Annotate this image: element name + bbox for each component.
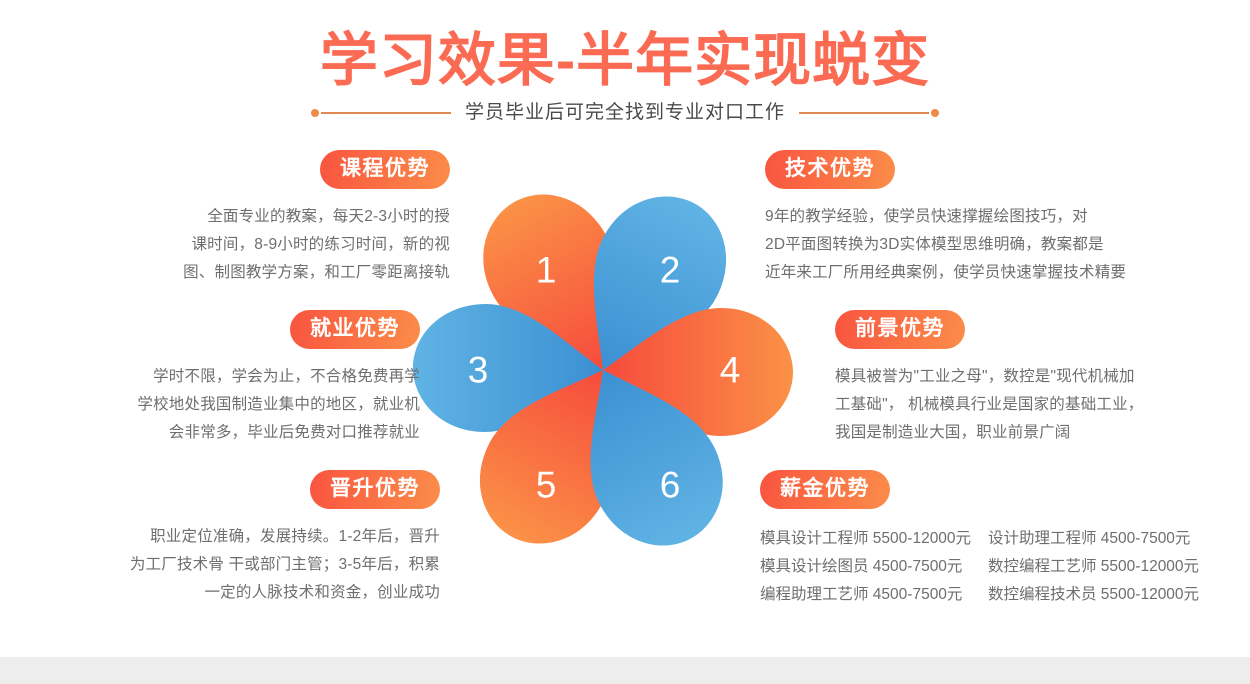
advantage-block-6: 薪金优势 模具设计工程师 5500-12000元 设计助理工程师 4500-75… (760, 470, 1205, 609)
subtitle-rule-right (799, 109, 939, 117)
text-line: 近年来工厂所用经典案例，使学员快速掌握技术精要 (765, 259, 1195, 287)
rule-dot-right-icon (931, 109, 939, 117)
advantage-3-text: 学时不限，学会为止，不合格免费再学 学校地处我国制造业集中的地区，就业机 会非常… (0, 363, 420, 447)
rule-bar-right (799, 112, 929, 114)
subtitle-row: 学员毕业后可完全找到专业对口工作 (0, 100, 1250, 126)
page-header: 学习效果-半年实现蜕变 学员毕业后可完全找到专业对口工作 (0, 0, 1250, 135)
text-line: 课时间，8-9小时的练习时间，新的视 (20, 231, 450, 259)
advantage-block-5: 晋升优势 职业定位准确，发展持续。1-2年后，晋升 为工厂技术骨 干或部门主管；… (10, 470, 440, 607)
rule-bar-left (321, 112, 451, 114)
badge-promotion-advantage[interactable]: 晋升优势 (310, 470, 440, 509)
petal-1-number: 1 (536, 250, 557, 291)
advantage-block-2: 技术优势 9年的教学经验，使学员快速撑握绘图技巧，对 2D平面图转换为3D实体模… (765, 150, 1195, 287)
advantage-block-3: 就业优势 学时不限，学会为止，不合格免费再学 学校地处我国制造业集中的地区，就业… (0, 310, 420, 447)
text-line: 全面专业的教案，每天2-3小时的授 (20, 203, 450, 231)
advantage-1-text: 全面专业的教案，每天2-3小时的授 课时间，8-9小时的练习时间，新的视 图、制… (20, 203, 450, 287)
badge-technical-advantage[interactable]: 技术优势 (765, 150, 895, 189)
text-line: 职业定位准确，发展持续。1-2年后，晋升 (10, 523, 440, 551)
advantage-5-text: 职业定位准确，发展持续。1-2年后，晋升 为工厂技术骨 干或部门主管；3-5年后… (10, 523, 440, 607)
advantage-4-text: 模具被誉为"工业之母"，数控是"现代机械加 工基础"， 机械模具行业是国家的基础… (835, 363, 1250, 447)
text-line: 学时不限，学会为止，不合格免费再学 (0, 363, 420, 391)
salary-cell: 模具设计工程师 5500-12000元 (760, 525, 988, 553)
bottom-band (0, 657, 1250, 684)
salary-cell: 数控编程工艺师 5500-12000元 (988, 553, 1205, 581)
text-line: 一定的人脉技术和资金，创业成功 (10, 579, 440, 607)
text-line: 工基础"， 机械模具行业是国家的基础工业， (835, 391, 1250, 419)
text-line: 图、制图教学方案，和工厂零距离接轨 (20, 259, 450, 287)
badge-salary-advantage[interactable]: 薪金优势 (760, 470, 890, 509)
petal-5-number: 5 (536, 465, 557, 506)
rule-dot-left-icon (311, 109, 319, 117)
page-subtitle: 学员毕业后可完全找到专业对口工作 (465, 100, 785, 126)
page-title: 学习效果-半年实现蜕变 (0, 28, 1250, 94)
text-line: 2D平面图转换为3D实体模型思维明确，教案都是 (765, 231, 1195, 259)
text-line: 9年的教学经验，使学员快速撑握绘图技巧，对 (765, 203, 1195, 231)
salary-cell: 编程助理工艺师 4500-7500元 (760, 581, 988, 609)
infographic-page: 学习效果-半年实现蜕变 学员毕业后可完全找到专业对口工作 (0, 0, 1250, 684)
advantage-block-4: 前景优势 模具被誉为"工业之母"，数控是"现代机械加 工基础"， 机械模具行业是… (835, 310, 1250, 447)
salary-table: 模具设计工程师 5500-12000元 设计助理工程师 4500-7500元 模… (760, 525, 1205, 609)
text-line: 学校地处我国制造业集中的地区，就业机 (0, 391, 420, 419)
six-petal-flower-diagram: 1 2 3 4 5 6 (408, 170, 798, 570)
salary-row: 模具设计绘图员 4500-7500元 数控编程工艺师 5500-12000元 (760, 553, 1205, 581)
text-line: 模具被誉为"工业之母"，数控是"现代机械加 (835, 363, 1250, 391)
petal-4-number: 4 (720, 350, 741, 391)
salary-cell: 模具设计绘图员 4500-7500元 (760, 553, 988, 581)
salary-cell: 设计助理工程师 4500-7500元 (988, 525, 1205, 553)
petal-3-number: 3 (468, 350, 489, 391)
badge-course-advantage[interactable]: 课程优势 (320, 150, 450, 189)
text-line: 为工厂技术骨 干或部门主管；3-5年后，积累 (10, 551, 440, 579)
salary-row: 编程助理工艺师 4500-7500元 数控编程技术员 5500-12000元 (760, 581, 1205, 609)
salary-row: 模具设计工程师 5500-12000元 设计助理工程师 4500-7500元 (760, 525, 1205, 553)
subtitle-rule-left (311, 109, 451, 117)
text-line: 会非常多，毕业后免费对口推荐就业 (0, 419, 420, 447)
badge-prospect-advantage[interactable]: 前景优势 (835, 310, 965, 349)
petal-2-number: 2 (660, 250, 681, 291)
petal-6-number: 6 (660, 465, 681, 506)
text-line: 我国是制造业大国，职业前景广阔 (835, 419, 1250, 447)
badge-employment-advantage[interactable]: 就业优势 (290, 310, 420, 349)
advantage-2-text: 9年的教学经验，使学员快速撑握绘图技巧，对 2D平面图转换为3D实体模型思维明确… (765, 203, 1195, 287)
salary-cell: 数控编程技术员 5500-12000元 (988, 581, 1205, 609)
advantage-block-1: 课程优势 全面专业的教案，每天2-3小时的授 课时间，8-9小时的练习时间，新的… (20, 150, 450, 287)
